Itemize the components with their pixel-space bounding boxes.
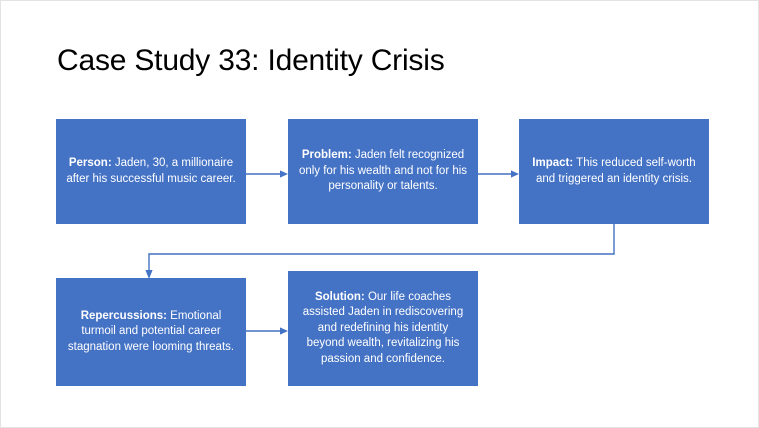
flowchart-node-problem[interactable]: Problem: Jaden felt recognized only for … xyxy=(288,119,478,224)
flowchart-node-solution[interactable]: Solution: Our life coaches assisted Jade… xyxy=(288,271,478,386)
arrow-right-icon-problem-to-impact xyxy=(478,159,519,189)
slide-canvas: Case Study 33: Identity Crisis Person: J… xyxy=(0,0,759,428)
node-person-label: Person: xyxy=(69,157,112,169)
arrow-right-icon-repercussions-to-solution xyxy=(246,316,288,346)
node-repercussions-text: Repercussions: Emotional turmoil and pot… xyxy=(66,309,236,356)
node-person-text: Person: Jaden, 30, a millionaire after h… xyxy=(66,156,236,187)
node-solution-text: Solution: Our life coaches assisted Jade… xyxy=(298,290,468,368)
node-solution-label: Solution: xyxy=(315,291,365,303)
node-impact-label: Impact: xyxy=(532,157,573,169)
flowchart-node-impact[interactable]: Impact: This reduced self-worth and trig… xyxy=(519,119,709,224)
node-problem-text: Problem: Jaden felt recognized only for … xyxy=(298,148,468,195)
flowchart-node-repercussions[interactable]: Repercussions: Emotional turmoil and pot… xyxy=(56,278,246,386)
page-title: Case Study 33: Identity Crisis xyxy=(57,41,445,81)
node-repercussions-label: Repercussions: xyxy=(81,310,167,322)
node-impact-text: Impact: This reduced self-worth and trig… xyxy=(529,156,699,187)
arrow-right-icon-person-to-problem xyxy=(246,159,288,189)
node-problem-label: Problem: xyxy=(302,149,352,161)
flowchart-node-person[interactable]: Person: Jaden, 30, a millionaire after h… xyxy=(56,119,246,224)
